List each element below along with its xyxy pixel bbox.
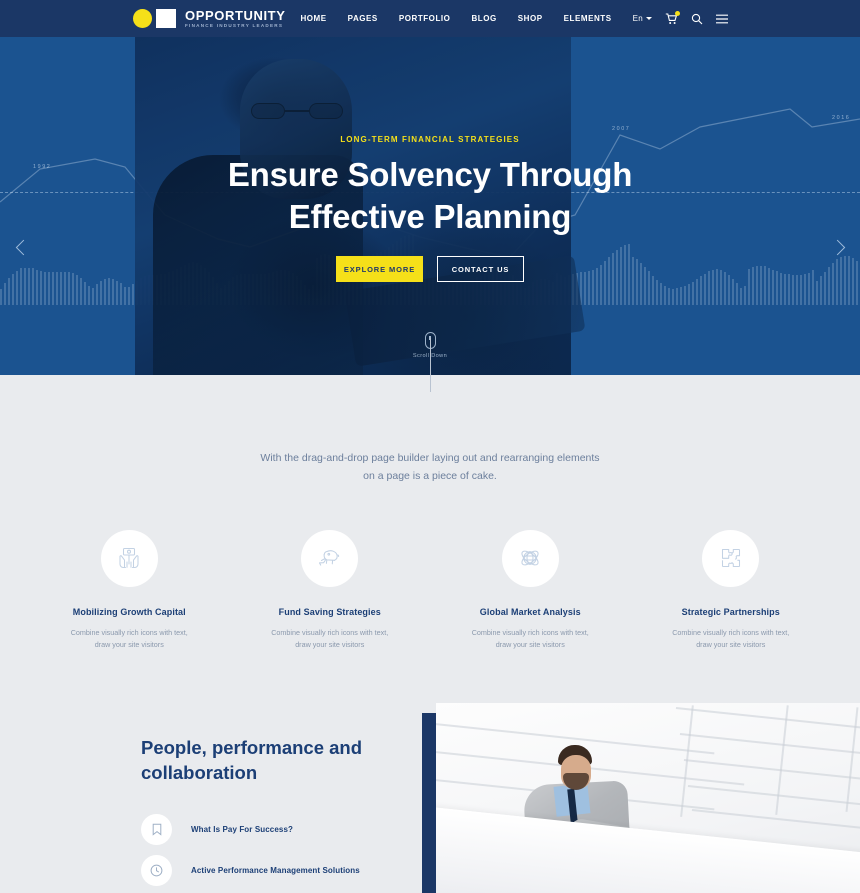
logo-circle-icon — [133, 9, 152, 28]
people-text-column: People, performance and collaboration Wh… — [141, 735, 431, 893]
logo-name: OPPORTUNITY — [185, 9, 286, 22]
puzzle-pieces-icon — [702, 530, 759, 587]
feature-desc-line1: Combine visually rich icons with text, — [271, 627, 388, 640]
feature-title: Strategic Partnerships — [682, 607, 780, 617]
people-heading: People, performance and collaboration — [141, 735, 431, 786]
logo-text: OPPORTUNITY FINANCE INDUSTRY LEADERS — [185, 9, 286, 29]
hero-eyebrow: LONG-TERM FINANCIAL STRATEGIES — [340, 135, 519, 144]
feature-title: Mobilizing Growth Capital — [73, 607, 186, 617]
logo-tagline: FINANCE INDUSTRY LEADERS — [185, 24, 286, 29]
bookmark-icon — [141, 814, 172, 845]
hero-slider: 1992 2007 2016 LONG-TERM FINANCIAL STRAT… — [0, 37, 860, 375]
clock-icon — [141, 855, 172, 886]
intro-line2: on a page is a piece of cake. — [0, 467, 860, 485]
people-media-panel — [422, 703, 860, 893]
nav-item-pages[interactable]: PAGES — [348, 14, 378, 23]
hero-heading-line1: Ensure Solvency Through — [228, 156, 632, 193]
people-heading-line1: People, performance and — [141, 737, 362, 758]
features-section: With the drag-and-drop page builder layi… — [0, 375, 860, 893]
feature-desc-line1: Combine visually rich icons with text, — [71, 627, 188, 640]
globe-orbit-icon — [502, 530, 559, 587]
hero-heading: Ensure Solvency Through Effective Planni… — [228, 154, 632, 238]
feature-desc-line2: draw your site visitors — [71, 639, 188, 652]
feature-desc-line1: Combine visually rich icons with text, — [672, 627, 789, 640]
hands-holding-money-icon — [101, 530, 158, 587]
site-header: OPPORTUNITY FINANCE INDUSTRY LEADERS HOM… — [0, 0, 860, 37]
feature-desc-line2: draw your site visitors — [472, 639, 589, 652]
accordion-item-pay-for-success-1[interactable]: What Is Pay For Success? — [141, 814, 431, 845]
intro-line1: With the drag-and-drop page builder layi… — [0, 449, 860, 467]
photo-railing — [436, 804, 860, 893]
nav-item-home[interactable]: HOME — [300, 14, 326, 23]
businessman-photo — [436, 703, 860, 893]
explore-more-button[interactable]: EXPLORE MORE — [336, 256, 423, 282]
accordion-list: What Is Pay For Success? Active Performa… — [141, 814, 431, 893]
chevron-down-icon — [646, 17, 652, 20]
main-navigation: HOME PAGES PORTFOLIO BLOG SHOP ELEMENTS … — [300, 13, 728, 25]
language-label: En — [633, 14, 643, 23]
feature-desc-line1: Combine visually rich icons with text, — [472, 627, 589, 640]
contact-us-button[interactable]: CONTACT US — [437, 256, 524, 282]
feature-description: Combine visually rich icons with text, d… — [271, 627, 388, 652]
nav-item-elements[interactable]: ELEMENTS — [564, 14, 612, 23]
site-logo[interactable]: OPPORTUNITY FINANCE INDUSTRY LEADERS — [133, 9, 286, 29]
accent-bar — [422, 713, 436, 893]
feature-desc-line2: draw your site visitors — [271, 639, 388, 652]
feature-card-fund-saving-strategies[interactable]: Fund Saving Strategies Combine visually … — [252, 530, 407, 652]
accordion-item-label: Active Performance Management Solutions — [191, 866, 360, 875]
language-selector[interactable]: En — [633, 14, 652, 23]
feature-description: Combine visually rich icons with text, d… — [472, 627, 589, 652]
accordion-item-active-performance[interactable]: Active Performance Management Solutions — [141, 855, 431, 886]
cart-badge — [675, 11, 680, 16]
feature-title: Fund Saving Strategies — [279, 607, 381, 617]
nav-item-shop[interactable]: SHOP — [518, 14, 543, 23]
hero-buttons: EXPLORE MORE CONTACT US — [336, 256, 524, 282]
piggy-bank-savings-icon — [301, 530, 358, 587]
people-section: People, performance and collaboration Wh… — [0, 698, 860, 893]
accordion-item-label: What Is Pay For Success? — [191, 825, 293, 834]
hamburger-menu-icon[interactable] — [716, 14, 728, 24]
feature-title: Global Market Analysis — [480, 607, 581, 617]
feature-cards: Mobilizing Growth Capital Combine visual… — [0, 530, 860, 652]
cart-icon[interactable] — [665, 13, 678, 25]
nav-item-blog[interactable]: BLOG — [471, 14, 496, 23]
feature-card-global-market-analysis[interactable]: Global Market Analysis Combine visually … — [453, 530, 608, 652]
hero-content: LONG-TERM FINANCIAL STRATEGIES Ensure So… — [0, 37, 860, 375]
feature-card-strategic-partnerships[interactable]: Strategic Partnerships Combine visually … — [653, 530, 808, 652]
feature-description: Combine visually rich icons with text, d… — [71, 627, 188, 652]
logo-square-icon — [156, 9, 176, 28]
people-heading-line2: collaboration — [141, 762, 257, 783]
hero-heading-line2: Effective Planning — [289, 198, 571, 235]
feature-description: Combine visually rich icons with text, d… — [672, 627, 789, 652]
feature-card-mobilizing-growth-capital[interactable]: Mobilizing Growth Capital Combine visual… — [52, 530, 207, 652]
search-icon[interactable] — [691, 13, 703, 25]
nav-item-portfolio[interactable]: PORTFOLIO — [399, 14, 451, 23]
feature-desc-line2: draw your site visitors — [672, 639, 789, 652]
